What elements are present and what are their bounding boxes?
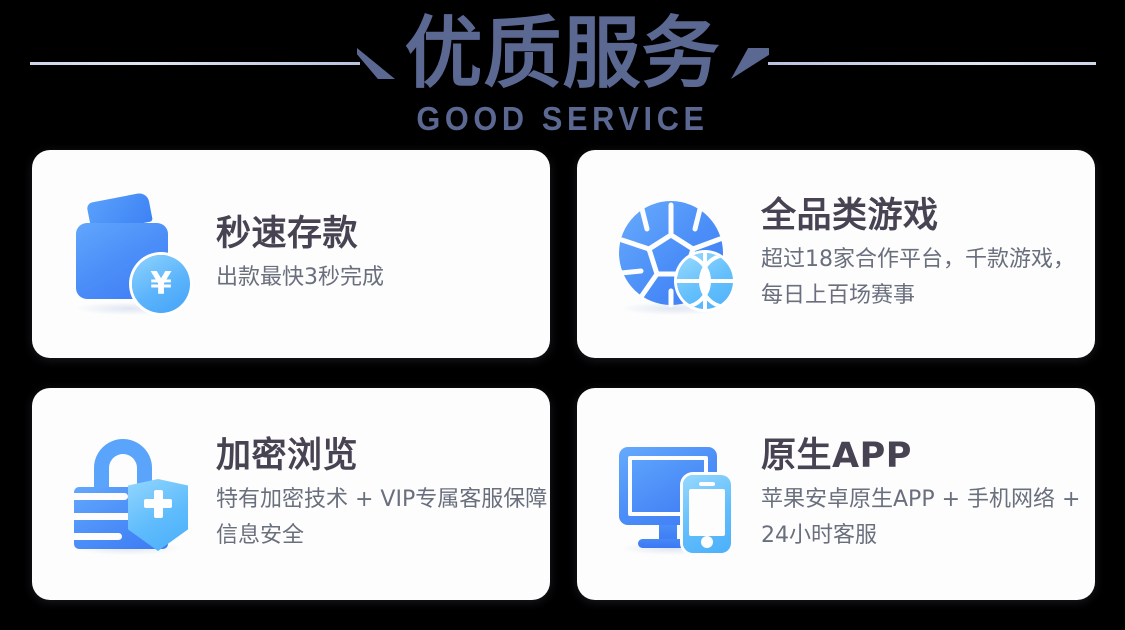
lock-slot xyxy=(74,533,122,540)
page-subtitle: GOOD SERVICE xyxy=(39,100,1085,138)
page-title: 优质服务 xyxy=(0,8,1125,100)
card-description: 特有加密技术 + VIP专属客服保障信息安全 xyxy=(216,482,550,554)
phone-speaker xyxy=(699,482,715,486)
card-description: 苹果安卓原生APP + 手机网络 + 24小时客服 xyxy=(761,482,1095,554)
card-text-block: 原生APP 苹果安卓原生APP + 手机网络 + 24小时客服 xyxy=(761,434,1095,554)
feature-card-grid: ¥ 秒速存款 出款最快3秒完成 xyxy=(32,150,1095,600)
monitor-phone-icon xyxy=(613,431,739,557)
basketball-seam-right xyxy=(699,253,733,309)
feature-card-encrypted-browsing[interactable]: 加密浏览 特有加密技术 + VIP专属客服保障信息安全 xyxy=(32,388,550,600)
card-text-block: 加密浏览 特有加密技术 + VIP专属客服保障信息安全 xyxy=(216,434,550,554)
card-title: 原生APP xyxy=(761,434,1095,478)
phone-screen xyxy=(689,489,725,536)
phone-icon xyxy=(683,475,731,553)
feature-card-all-games[interactable]: 全品类游戏 超过18家合作平台，千款游戏，每日上百场赛事 xyxy=(577,150,1095,358)
card-title: 加密浏览 xyxy=(216,434,550,478)
card-text-block: 全品类游戏 超过18家合作平台，千款游戏，每日上百场赛事 xyxy=(761,194,1095,314)
plus-icon xyxy=(144,499,172,508)
feature-card-native-app[interactable]: 原生APP 苹果安卓原生APP + 手机网络 + 24小时客服 xyxy=(577,388,1095,600)
feature-card-instant-deposit[interactable]: ¥ 秒速存款 出款最快3秒完成 xyxy=(32,150,550,358)
card-text-block: 秒速存款 出款最快3秒完成 xyxy=(216,212,384,296)
card-title: 全品类游戏 xyxy=(761,194,1095,238)
lock-slot xyxy=(74,493,128,500)
monitor-stand-neck xyxy=(659,525,677,540)
lock-slot xyxy=(74,513,136,520)
soccer-basketball-icon xyxy=(613,191,739,317)
page-header: 优质服务 GOOD SERVICE xyxy=(0,0,1125,142)
phone-home-button xyxy=(701,536,713,548)
lock-shield-icon xyxy=(68,431,194,557)
card-title: 秒速存款 xyxy=(216,212,384,256)
card-description: 超过18家合作平台，千款游戏，每日上百场赛事 xyxy=(761,242,1095,314)
yen-symbol: ¥ xyxy=(150,269,172,300)
card-description: 出款最快3秒完成 xyxy=(216,260,384,296)
yen-coin-icon: ¥ xyxy=(132,255,190,313)
wallet-yen-icon: ¥ xyxy=(68,191,194,317)
basketball-icon xyxy=(677,253,733,309)
